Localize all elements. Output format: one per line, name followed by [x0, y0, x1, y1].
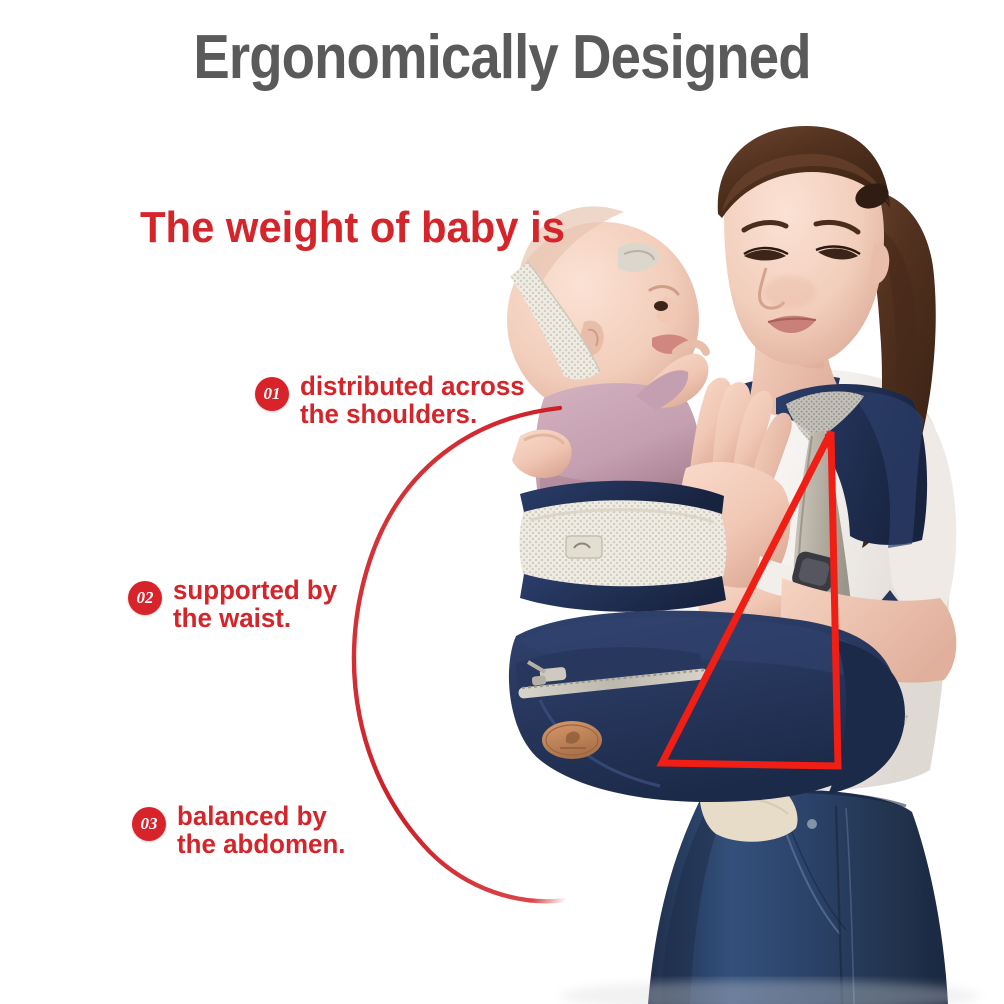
callout-arc [354, 408, 566, 901]
callout-02: 02 supported by the waist. [128, 576, 344, 632]
callout-02-line2: the waist. [173, 604, 337, 632]
page-subtitle: The weight of baby is [140, 203, 565, 253]
weight-distribution-triangle [662, 432, 838, 766]
callout-01-line1: distributed across [300, 372, 525, 400]
callout-01-line2: the shoulders. [300, 400, 525, 428]
callout-02-line1: supported by [173, 576, 337, 604]
callout-03: 03 balanced by the abdomen. [132, 802, 353, 858]
callout-03-line2: the abdomen. [177, 830, 345, 858]
infographic-canvas: Ergonomically Designed The weight of bab… [0, 0, 1004, 1004]
page-title: Ergonomically Designed [60, 22, 944, 93]
callout-03-line1: balanced by [177, 802, 345, 830]
callout-badge-02: 02 [128, 581, 162, 615]
callout-text-02: supported by the waist. [173, 576, 337, 632]
callout-01: 01 distributed across the shoulders. [255, 372, 534, 428]
callout-text-03: balanced by the abdomen. [177, 802, 345, 858]
callout-badge-01: 01 [255, 377, 289, 411]
callout-badge-03: 03 [132, 807, 166, 841]
callout-text-01: distributed across the shoulders. [300, 372, 525, 428]
